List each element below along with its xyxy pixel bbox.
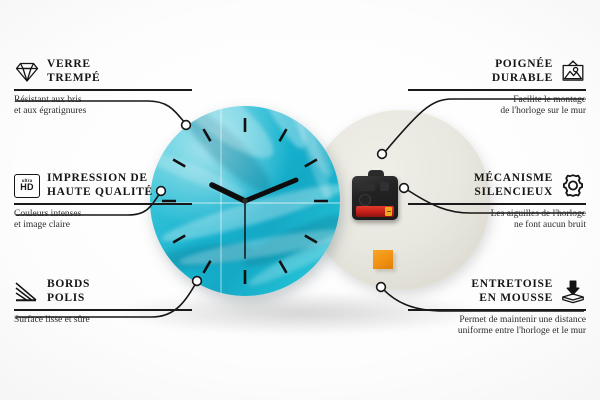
callout-title: ENTRETOISE EN MOUSSE <box>471 278 553 305</box>
callout-header: POIGNÉE DURABLE <box>408 58 586 85</box>
callout-divider <box>408 203 586 205</box>
ultra-hd-badge-icon: ultra HD <box>14 173 40 199</box>
callout-entretoise-en-mousse: ENTRETOISE EN MOUSSE Permet de maintenir… <box>408 278 586 338</box>
callout-subtitle: Permet de maintenir une distance uniform… <box>408 315 586 338</box>
callout-bords-polis: BORDS POLIS Surface lisse et sûre <box>14 278 192 326</box>
callout-divider <box>14 89 192 91</box>
callout-poignee-durable: POIGNÉE DURABLE Facilite le montage de l… <box>408 58 586 118</box>
callout-subtitle: Couleurs intenses et image claire <box>14 209 192 232</box>
gear-icon <box>560 173 586 199</box>
callout-divider <box>14 203 192 205</box>
connector-marker-verre-trempe <box>182 121 191 130</box>
ultra-hd-badge-main-label: HD <box>20 183 33 192</box>
callout-header: BORDS POLIS <box>14 278 192 305</box>
callout-title: BORDS POLIS <box>47 278 90 305</box>
connector-marker-entretoise <box>377 283 386 292</box>
callout-header: ultra HD IMPRESSION DE HAUTE QUALITÉ <box>14 172 192 199</box>
foam-spacer-arrow-icon <box>560 279 586 305</box>
connector-marker-bords-polis <box>193 277 202 286</box>
callout-header: VERRE TREMPÉ <box>14 58 192 85</box>
callout-subtitle: Les aiguilles de l'horloge ne font aucun… <box>408 209 586 232</box>
callout-subtitle: Résistant aux bris et aux égratignures <box>14 95 192 118</box>
connector-marker-poignee <box>378 150 387 159</box>
callout-impression-haute-qualite: ultra HD IMPRESSION DE HAUTE QUALITÉ Cou… <box>14 172 192 232</box>
infographic-canvas: VERRE TREMPÉ Résistant aux bris et aux é… <box>0 0 600 400</box>
callout-header: MÉCANISME SILENCIEUX <box>408 172 586 199</box>
callout-header: ENTRETOISE EN MOUSSE <box>408 278 586 305</box>
callout-divider <box>14 309 192 311</box>
callout-title: IMPRESSION DE HAUTE QUALITÉ <box>47 172 153 199</box>
callout-divider <box>408 89 586 91</box>
callout-verre-trempe: VERRE TREMPÉ Résistant aux bris et aux é… <box>14 58 192 118</box>
callout-title: VERRE TREMPÉ <box>47 58 100 85</box>
polished-edges-icon <box>14 279 40 305</box>
diamond-icon <box>14 59 40 85</box>
callout-title: POIGNÉE DURABLE <box>492 58 553 85</box>
hanging-picture-frame-icon <box>560 59 586 85</box>
callout-subtitle: Facilite le montage de l'horloge sur le … <box>408 95 586 118</box>
callout-title: MÉCANISME SILENCIEUX <box>474 172 553 199</box>
callout-divider <box>408 309 586 311</box>
callout-mecanisme-silencieux: MÉCANISME SILENCIEUX Les aiguilles de l'… <box>408 172 586 232</box>
callout-subtitle: Surface lisse et sûre <box>14 315 192 327</box>
